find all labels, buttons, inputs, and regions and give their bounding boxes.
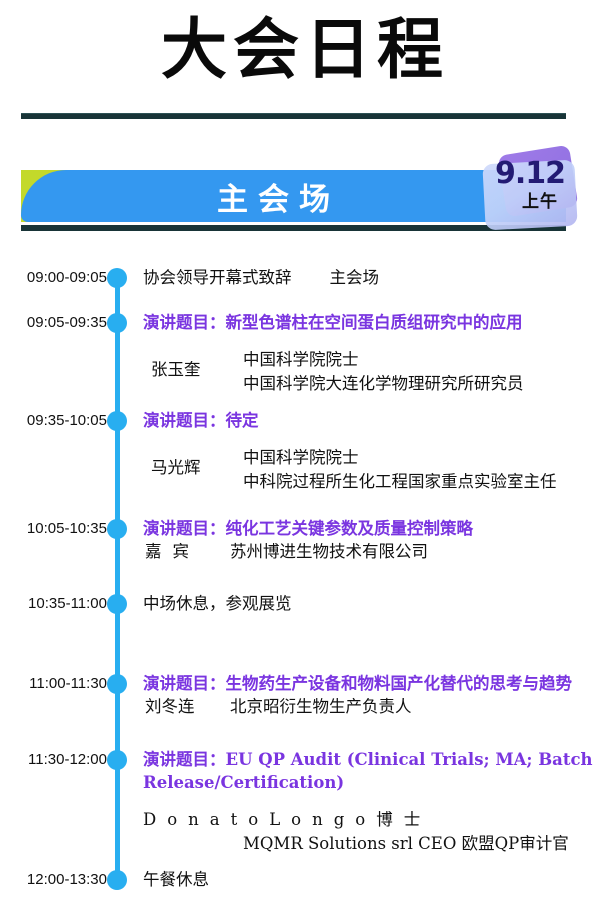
speaker-block: 嘉宾苏州博进生物技术有限公司 — [143, 540, 603, 564]
slot-time-label: 09:05-09:35 — [0, 314, 107, 332]
slot-time-label: 09:35-10:05 — [0, 412, 107, 430]
speaker-block: 马光辉中国科学院院士中科院过程所生化工程国家重点实验室主任 — [143, 432, 603, 494]
speaker-name: 刘冬连 — [143, 695, 230, 719]
speaker-affiliation-line: 中国科学院大连化学物理研究所研究员 — [243, 372, 524, 396]
speaker-affiliation: MQMR Solutions srl CEO 欧盟QP审计官 — [143, 832, 603, 856]
slot-plain-text: 协会领导开幕式致辞主会场 — [143, 266, 603, 290]
lecture-title-label: 演讲题目： — [143, 750, 226, 769]
date-badge-date: 9.12 — [484, 158, 576, 190]
slot-body: 午餐休息 — [143, 868, 603, 892]
slot-body: 中场休息，参观展览 — [143, 592, 603, 616]
speaker-name: 张玉奎 — [143, 334, 243, 382]
lecture-title: 演讲题目：EU QP Audit (Clinical Trials; MA; B… — [48, 748, 603, 794]
timeline-dot — [107, 268, 127, 288]
slot-activity-name: 午餐休息 — [143, 868, 603, 892]
slot-time-label: 12:00-13:30 — [0, 871, 107, 889]
timeline-dot — [107, 674, 127, 694]
lecture-title: 演讲题目：生物药生产设备和物料国产化替代的思考与趋势 — [143, 672, 603, 695]
speaker-affiliation-line: 中国科学院院士 — [243, 446, 557, 470]
date-badge: 9.12 上午 — [480, 148, 592, 234]
speaker-name: 马光辉 — [143, 432, 243, 480]
timeline-dot — [107, 313, 127, 333]
timeline-dot — [107, 519, 127, 539]
slot-time-label: 11:00-11:30 — [0, 675, 107, 693]
slot-activity-name: 中场休息，参观展览 — [143, 592, 603, 616]
speaker-affiliation-line: 中科院过程所生化工程国家重点实验室主任 — [243, 470, 557, 494]
lecture-title-label: 演讲题目： — [143, 519, 226, 538]
speaker-affiliation-line: 苏州博进生物技术有限公司 — [230, 540, 428, 564]
slot-body: 演讲题目：纯化工艺关键参数及质量控制策略嘉宾苏州博进生物技术有限公司 — [143, 517, 603, 564]
slot-time-label: 10:35-11:00 — [0, 595, 107, 613]
lecture-title-label: 演讲题目： — [143, 313, 226, 332]
slot-venue: 主会场 — [330, 268, 380, 287]
speaker-block: DonatoLongo博士MQMR Solutions srl CEO 欧盟QP… — [143, 794, 603, 856]
slot-body: 演讲题目：新型色谱柱在空间蛋白质组研究中的应用张玉奎中国科学院院士中国科学院大连… — [143, 311, 603, 396]
lecture-title: 演讲题目：新型色谱柱在空间蛋白质组研究中的应用 — [143, 311, 603, 334]
speaker-affiliation: 中国科学院院士中国科学院大连化学物理研究所研究员 — [243, 334, 524, 396]
slot-body: 演讲题目：EU QP Audit (Clinical Trials; MA; B… — [143, 748, 603, 856]
timeline-dot — [107, 594, 127, 614]
date-badge-period: 上午 — [494, 192, 586, 212]
lecture-title: 演讲题目：待定 — [143, 409, 603, 432]
speaker-affiliation: 北京昭衍生物生产负责人 — [230, 695, 412, 719]
page-title: 大会日程 — [0, 6, 610, 94]
lecture-title-text: 纯化工艺关键参数及质量控制策略 — [226, 519, 474, 538]
speaker-affiliation-line: MQMR Solutions srl CEO 欧盟QP审计官 — [143, 832, 603, 856]
lecture-title-text: 新型色谱柱在空间蛋白质组研究中的应用 — [226, 313, 523, 332]
timeline-dot — [107, 411, 127, 431]
lecture-title: 演讲题目：纯化工艺关键参数及质量控制策略 — [143, 517, 603, 540]
speaker-name: DonatoLongo博士 — [143, 794, 603, 832]
speaker-affiliation-line: 中国科学院院士 — [243, 348, 524, 372]
lecture-title-text: 待定 — [226, 411, 259, 430]
lecture-title-label: 演讲题目： — [143, 674, 226, 693]
slot-time-label: 09:00-09:05 — [0, 269, 107, 287]
timeline-dot — [107, 870, 127, 890]
speaker-affiliation-line: 北京昭衍生物生产负责人 — [230, 695, 412, 719]
speaker-block: 张玉奎中国科学院院士中国科学院大连化学物理研究所研究员 — [143, 334, 603, 396]
slot-activity-name: 协会领导开幕式致辞 — [143, 268, 292, 287]
slot-body: 演讲题目：生物药生产设备和物料国产化替代的思考与趋势刘冬连北京昭衍生物生产负责人 — [143, 672, 603, 719]
header-divider-rule — [21, 113, 566, 119]
speaker-name: 嘉宾 — [143, 540, 230, 564]
lecture-title-text: 生物药生产设备和物料国产化替代的思考与趋势 — [226, 674, 573, 693]
slot-time-label: 10:05-10:35 — [0, 520, 107, 538]
slot-body: 演讲题目：待定马光辉中国科学院院士中科院过程所生化工程国家重点实验室主任 — [143, 409, 603, 494]
speaker-block: 刘冬连北京昭衍生物生产负责人 — [143, 695, 603, 719]
speaker-affiliation: 苏州博进生物技术有限公司 — [230, 540, 428, 564]
lecture-title-label: 演讲题目： — [143, 411, 226, 430]
slot-body: 协会领导开幕式致辞主会场 — [143, 266, 603, 290]
speaker-affiliation: 中国科学院院士中科院过程所生化工程国家重点实验室主任 — [243, 432, 557, 494]
